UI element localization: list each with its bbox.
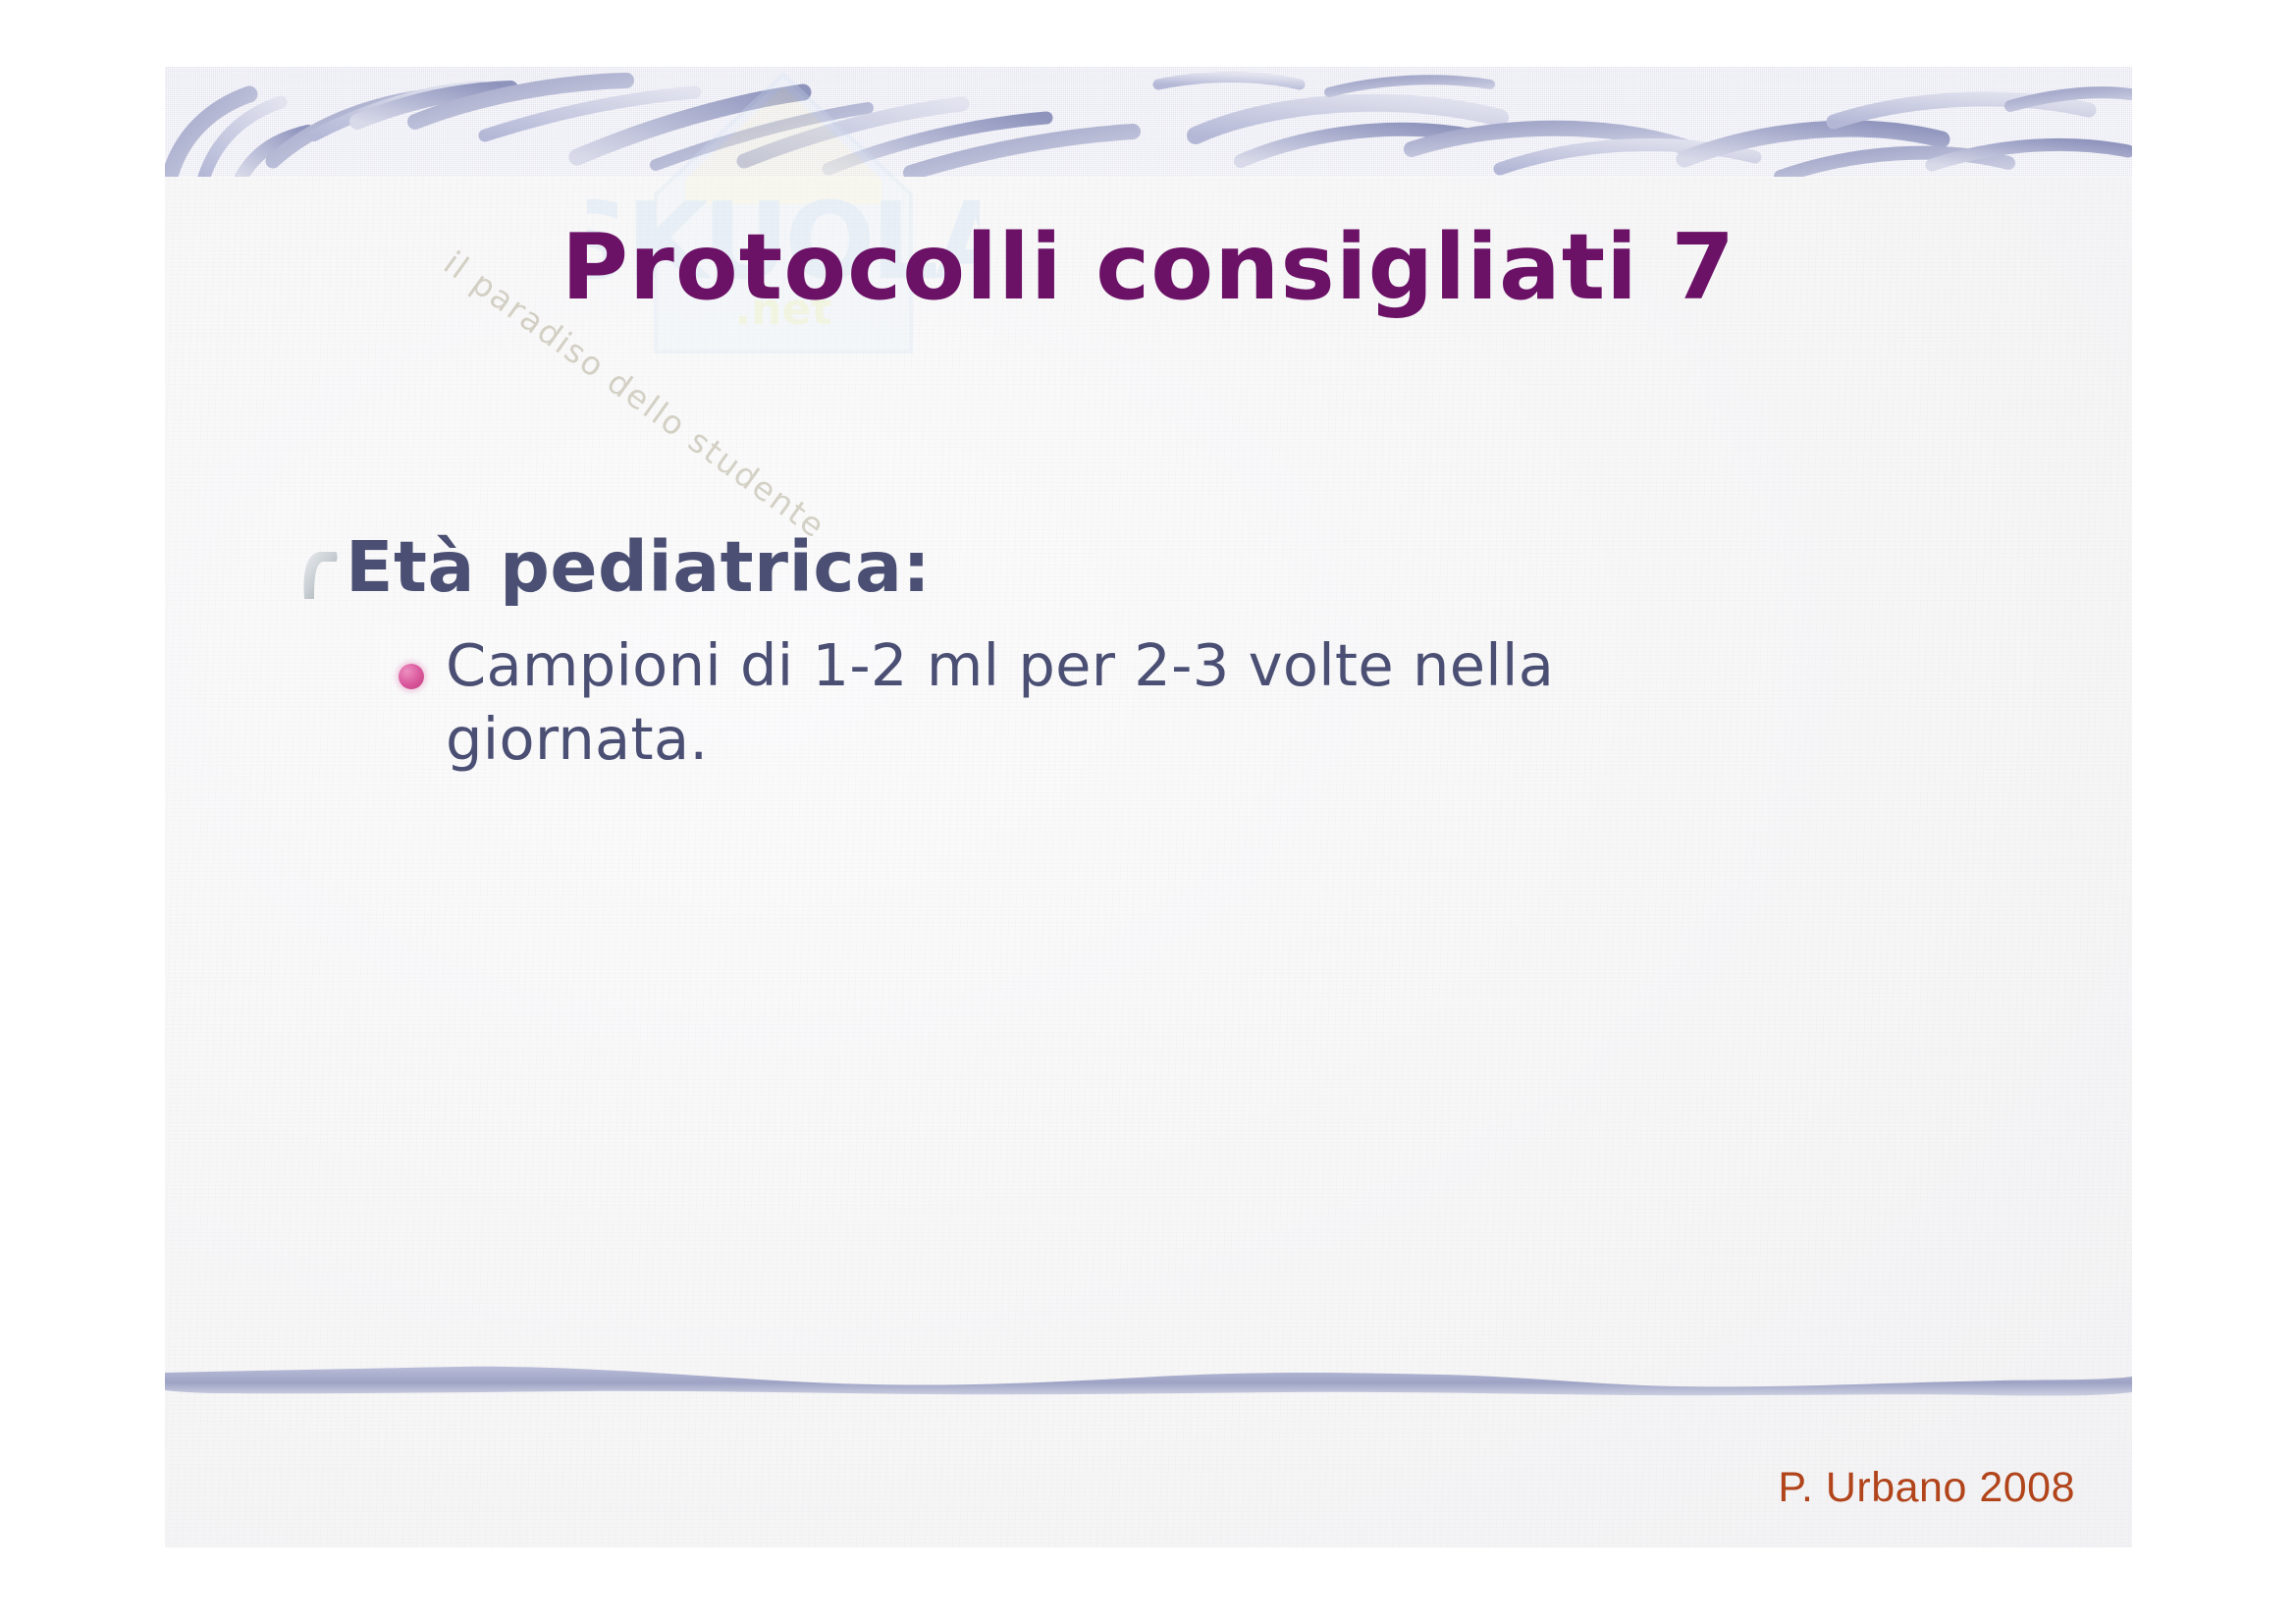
bottom-wave-divider <box>165 1363 2132 1404</box>
hook-bullet-icon <box>294 546 340 601</box>
slide-body: Età pediatrica: Campioni di 1-2 ml per 2… <box>294 528 2052 777</box>
footer-credit: P. Urbano 2008 <box>1778 1464 2075 1512</box>
bullet-level2-text: Campioni di 1-2 ml per 2-3 volte nella g… <box>446 628 1722 777</box>
list-item: Età pediatrica: <box>294 528 2052 607</box>
header-decoration-band <box>165 67 2132 177</box>
round-pink-bullet-icon <box>399 664 424 689</box>
slide-title: Protocolli consigliati 7 <box>165 219 2132 316</box>
bullet-level1-text: Età pediatrica: <box>346 528 931 607</box>
slide-canvas: SKUOLA .net il paradiso dello studente P… <box>165 67 2132 1547</box>
list-item: Campioni di 1-2 ml per 2-3 volte nella g… <box>399 628 2052 777</box>
brush-strokes-graphic <box>165 67 2132 177</box>
